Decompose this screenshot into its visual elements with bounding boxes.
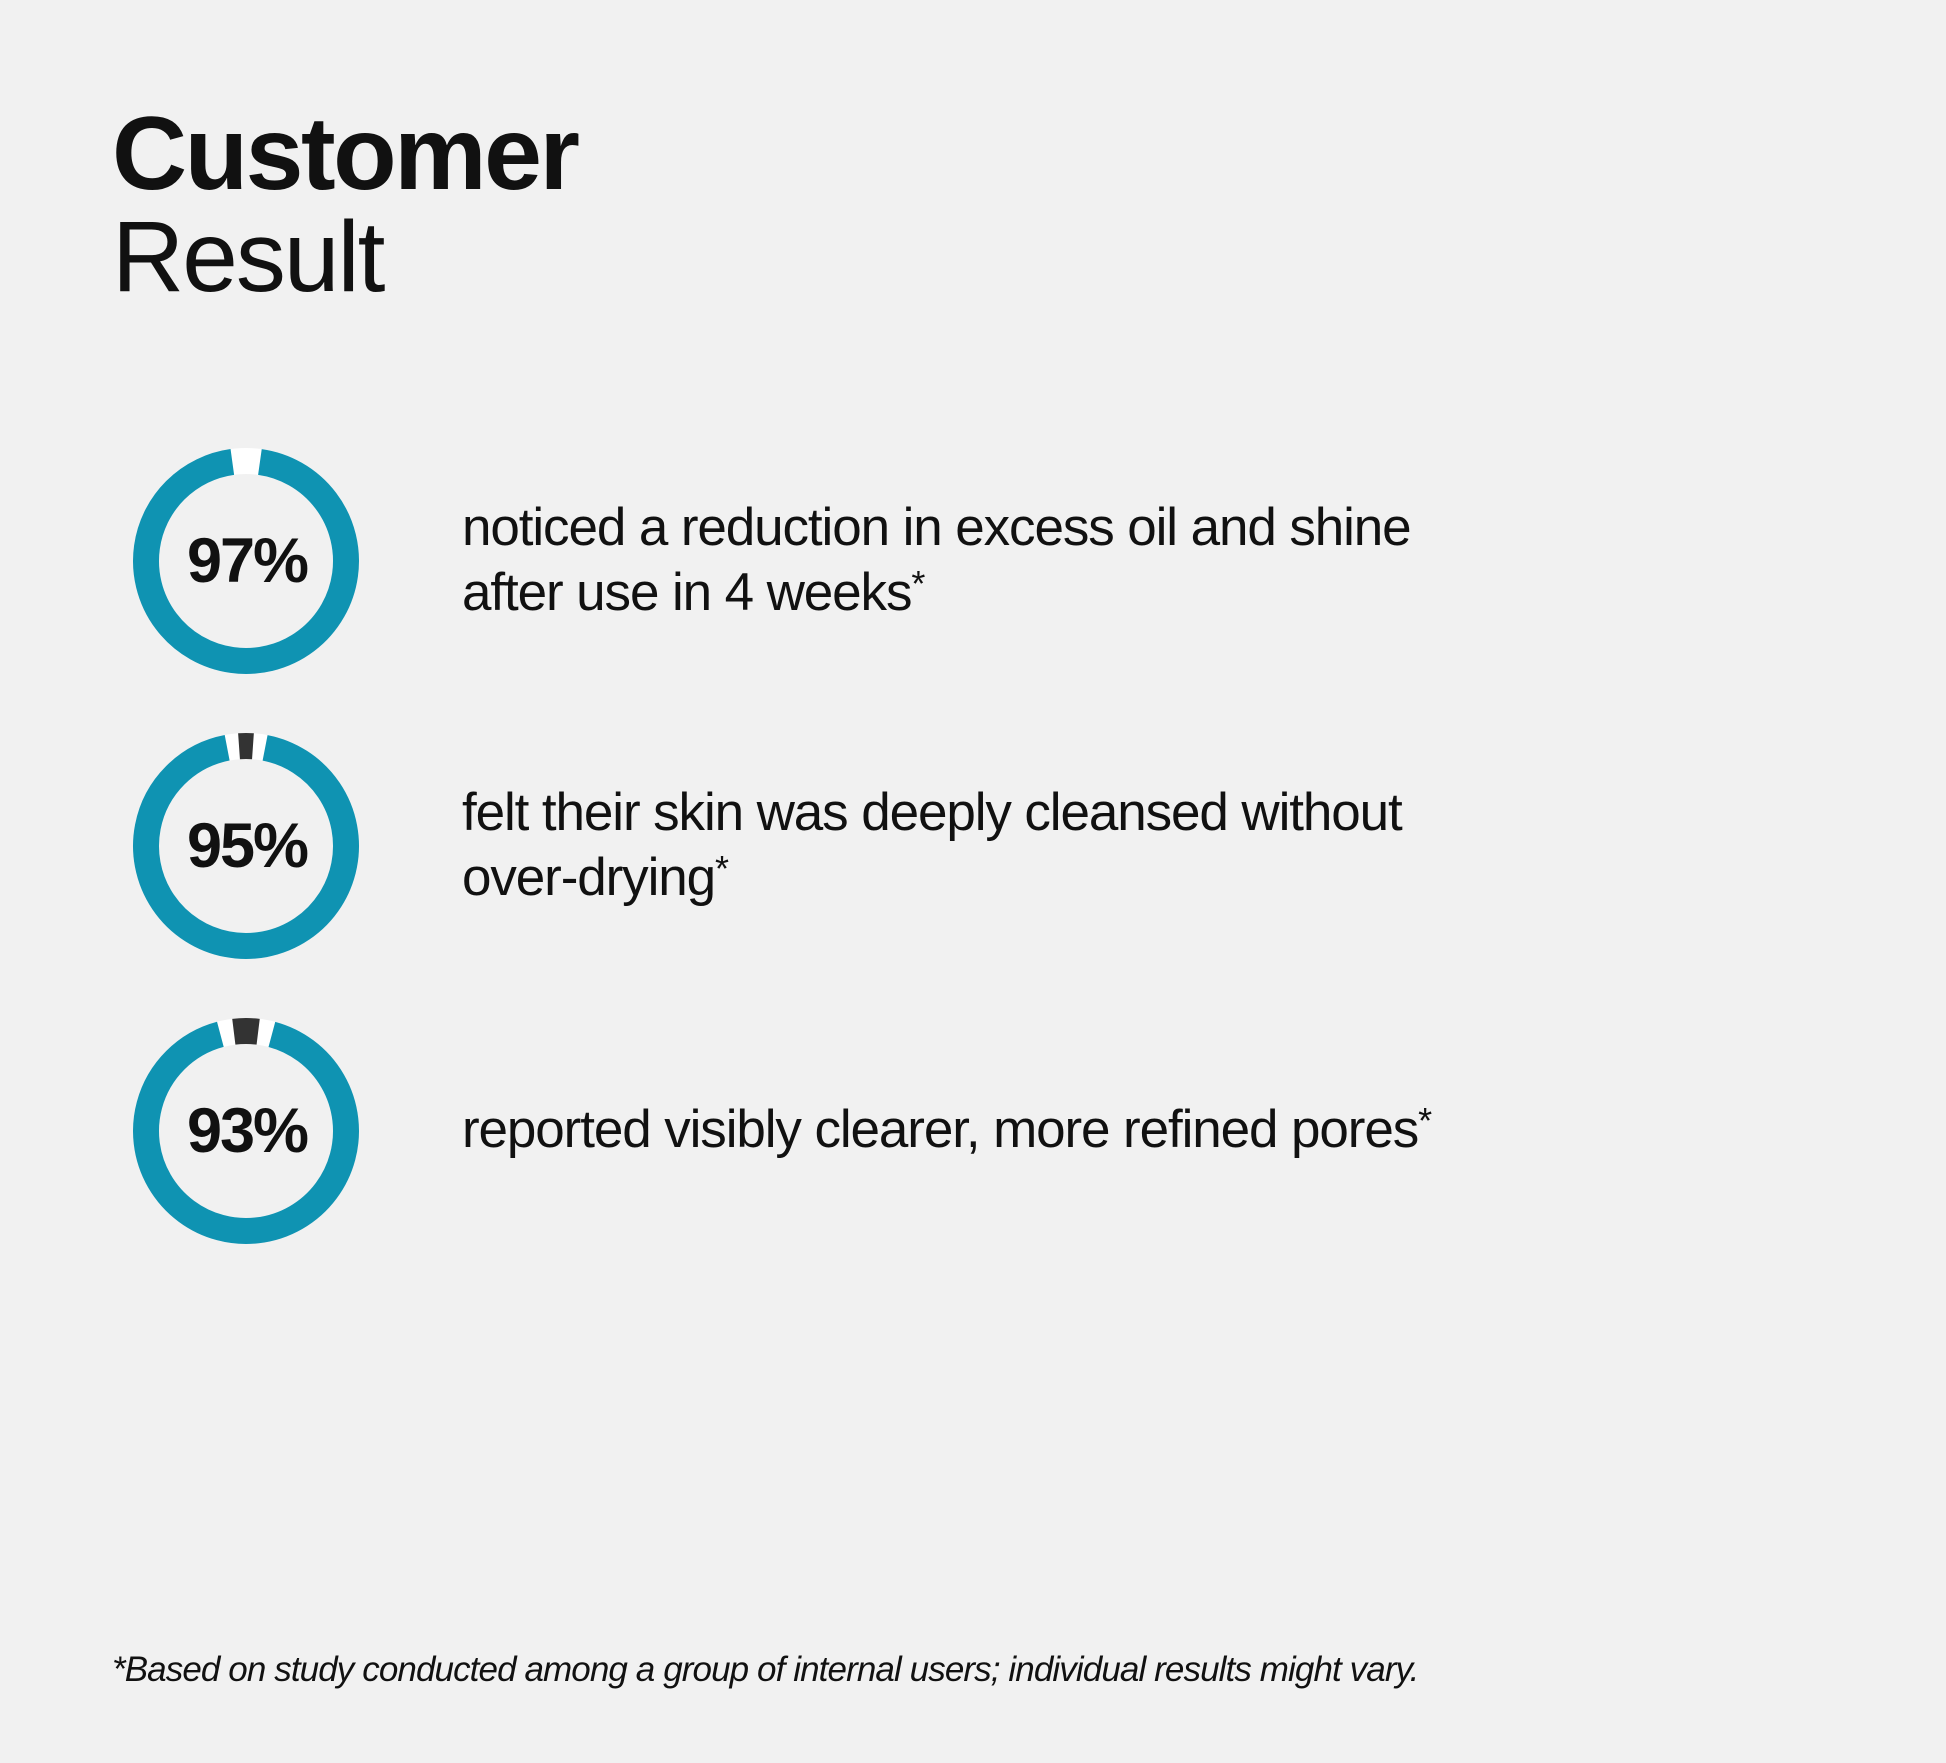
- stat-row: 93% reported visibly clearer, more refin…: [0, 988, 1946, 1273]
- donut-percent-label: 95%: [126, 726, 366, 966]
- footnote-marker: *: [715, 848, 729, 889]
- stat-description-text: felt their skin was deeply cleansed with…: [462, 783, 1402, 907]
- donut-chart-95: 95%: [126, 726, 366, 966]
- donut-percent-label: 93%: [126, 1011, 366, 1251]
- stat-row: 95% felt their skin was deeply cleansed …: [0, 703, 1946, 988]
- page-title-line-1: Customer: [112, 104, 577, 206]
- footnote-marker: *: [1418, 1100, 1432, 1141]
- footnote-marker: *: [911, 563, 925, 604]
- donut-chart-93: 93%: [126, 1011, 366, 1251]
- stat-list: 97% noticed a reduction in excess oil an…: [0, 418, 1946, 1273]
- page-title: Customer Result: [112, 104, 577, 306]
- stat-description-text: reported visibly clearer, more refined p…: [462, 1100, 1418, 1159]
- donut-chart-97: 97%: [126, 441, 366, 681]
- stat-description-text: noticed a reduction in excess oil and sh…: [462, 498, 1411, 622]
- customer-result-infographic: Customer Result 97% noticed a reduction …: [0, 0, 1946, 1763]
- footnote: *Based on study conducted among a group …: [112, 1650, 1418, 1690]
- stat-description: noticed a reduction in excess oil and sh…: [462, 496, 1472, 625]
- stat-row: 97% noticed a reduction in excess oil an…: [0, 418, 1946, 703]
- stat-description: reported visibly clearer, more refined p…: [462, 1098, 1432, 1163]
- stat-description: felt their skin was deeply cleansed with…: [462, 781, 1472, 910]
- page-title-line-2: Result: [112, 208, 577, 306]
- donut-percent-label: 97%: [126, 441, 366, 681]
